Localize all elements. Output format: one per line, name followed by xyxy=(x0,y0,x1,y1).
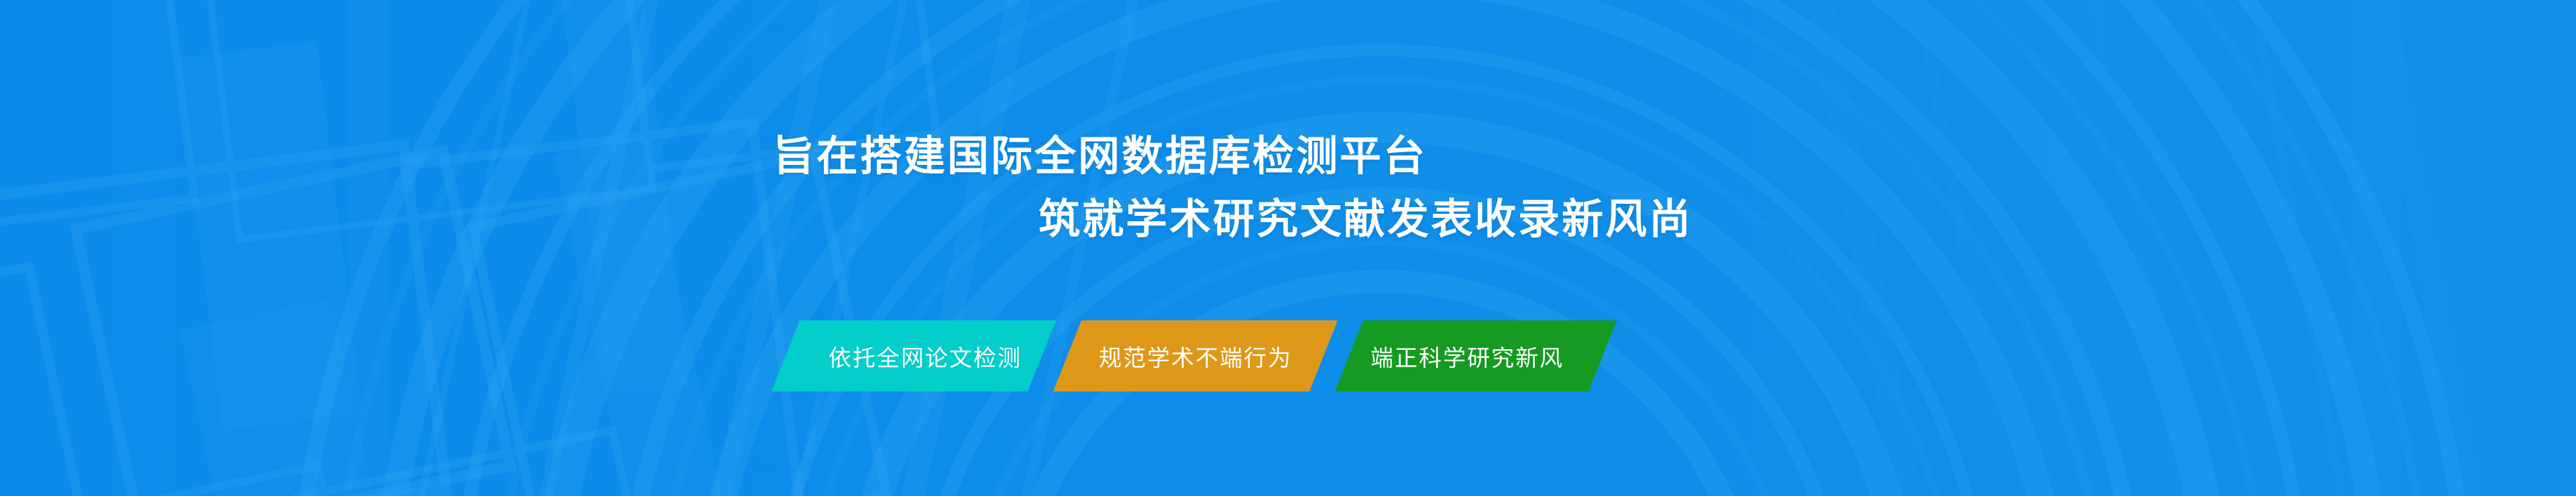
feature-tag-misconduct[interactable]: 规范学术不端行为 xyxy=(1053,320,1338,391)
feature-tag-research-ethos[interactable]: 端正科学研究新风 xyxy=(1335,320,1617,391)
headline-line-1: 旨在搭建国际全网数据库检测平台 xyxy=(0,131,1811,182)
feature-tag-detection[interactable]: 依托全网论文检测 xyxy=(771,320,1056,391)
feature-tag-label: 规范学术不端行为 xyxy=(1099,340,1292,373)
promo-banner: 旨在搭建国际全网数据库检测平台 筑就学术研究文献发表收录新风尚 依托全网论文检测… xyxy=(0,0,2576,496)
headline-line-2: 筑就学术研究文献发表收录新风尚 xyxy=(0,194,1811,245)
feature-tag-label: 依托全网论文检测 xyxy=(828,340,1022,373)
feature-tag-bar: 依托全网论文检测 规范学术不端行为 端正科学研究新风 xyxy=(771,320,1617,391)
feature-tag-label: 端正科学研究新风 xyxy=(1371,340,1564,373)
background-graphic xyxy=(0,0,2576,496)
headline-block: 旨在搭建国际全网数据库检测平台 筑就学术研究文献发表收录新风尚 xyxy=(0,131,1811,245)
